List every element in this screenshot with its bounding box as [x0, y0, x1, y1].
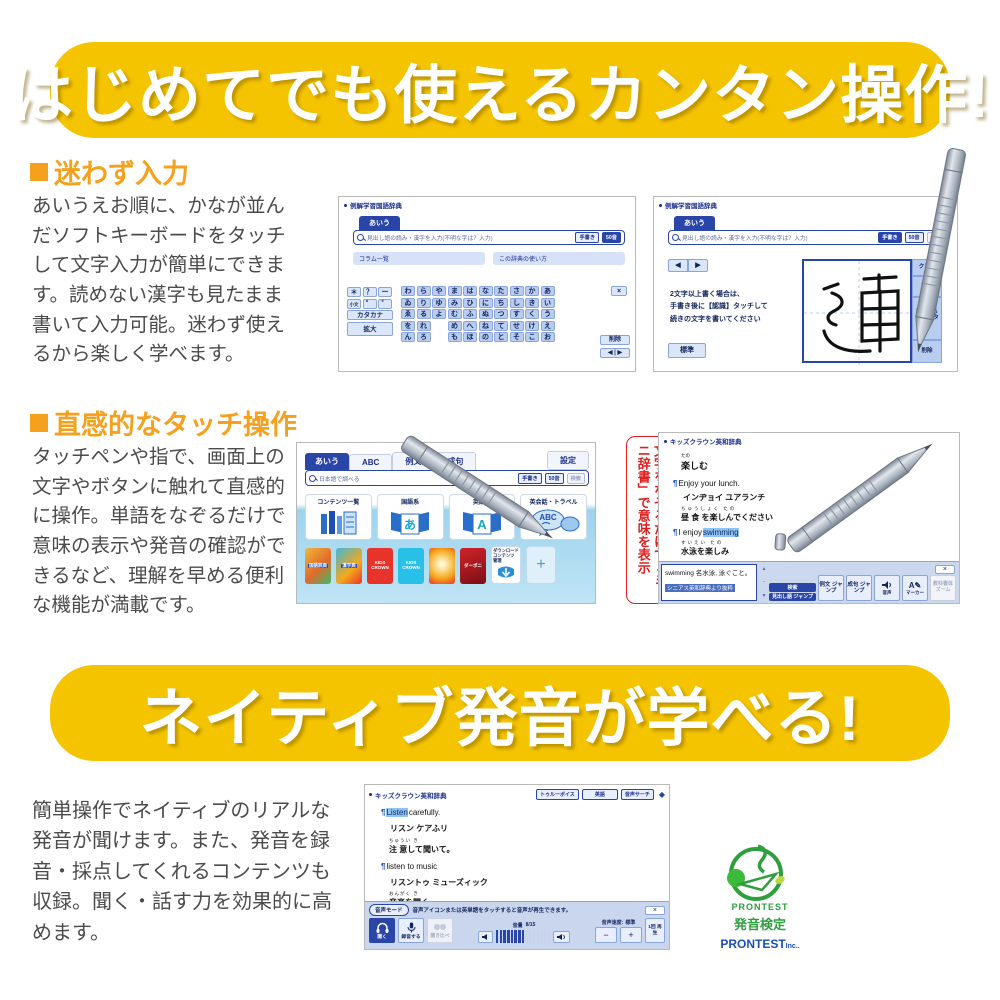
- open-book-japanese-icon: あ: [387, 506, 433, 536]
- instruction-line: 2文字以上書く場合は、: [670, 289, 768, 301]
- kana-key[interactable]: し: [510, 298, 524, 308]
- prontest-name: PRONTEST: [690, 902, 830, 912]
- mini-source: シニアス英和辞典より抜粋: [665, 584, 735, 592]
- kana-key[interactable]: ん: [401, 332, 415, 342]
- kana-key[interactable]: ゆ: [432, 298, 446, 308]
- close-button[interactable]: ×: [645, 906, 665, 915]
- kana-key[interactable]: み: [448, 298, 462, 308]
- handwrite-button[interactable]: 手書き: [575, 232, 599, 243]
- marker-icon: A✎: [909, 581, 921, 590]
- example-jump-button[interactable]: 例文 ジャンプ: [818, 575, 844, 601]
- kana-key[interactable]: は: [463, 286, 477, 296]
- marker-button[interactable]: A✎ マーカー: [902, 575, 928, 601]
- column-list-band[interactable]: コラム一覧: [353, 252, 485, 265]
- speed-label: 音声速度:: [602, 919, 624, 926]
- kana-key[interactable]: ゑ: [401, 309, 415, 319]
- textbook-zoom-button: 教科書体 ズーム: [930, 575, 956, 601]
- key-dash[interactable]: ー: [378, 287, 392, 297]
- search-button[interactable]: 検索: [567, 473, 585, 484]
- svg-text:ABC: ABC: [539, 513, 557, 522]
- example-kana: リスントゥ ミューズィック: [390, 877, 669, 888]
- book-cover[interactable]: [429, 548, 455, 584]
- instruction-line: 続きの文字を書いてください: [670, 314, 768, 326]
- example-japanese: 注 意して聞いて。: [389, 844, 669, 855]
- kana-key[interactable]: つ: [494, 309, 508, 319]
- replay-once-button[interactable]: 1回 再生: [645, 918, 665, 943]
- screen-title-text: キッズクラウン英和辞典: [375, 790, 447, 800]
- example-english: carefully.: [409, 808, 440, 817]
- tab-idiom[interactable]: 成句: [434, 452, 476, 470]
- howto-band[interactable]: この辞典の使い方: [493, 252, 625, 265]
- kana-key[interactable]: せ: [510, 321, 524, 331]
- screen-title-text: 例解学習国語辞典: [350, 200, 402, 210]
- compare-icon: [433, 922, 447, 932]
- tab-abc[interactable]: ABC: [349, 454, 392, 470]
- scroll-up-icon[interactable]: ▲: [762, 566, 767, 572]
- kana-key[interactable]: ね: [479, 321, 493, 331]
- kana-key[interactable]: や: [432, 286, 446, 296]
- example-english: Enjoy your lunch.: [678, 479, 739, 488]
- entry-word: 楽しむ: [681, 459, 959, 473]
- audio-button[interactable]: 音声: [874, 575, 900, 601]
- kana-key[interactable]: き: [525, 298, 539, 308]
- paragraph-mark-icon: ¶: [673, 479, 677, 488]
- kana-key[interactable]: な: [479, 286, 493, 296]
- kana-key[interactable]: と: [494, 332, 508, 342]
- section-heading-label: 迷わず入力: [54, 152, 189, 191]
- category-label: 国語系: [401, 497, 419, 506]
- search-placeholder: 日本語で調べる: [319, 474, 515, 483]
- books-icon: [315, 506, 361, 536]
- book-cover[interactable]: KIDS CROWN: [398, 548, 424, 584]
- kana-key[interactable]: れ: [417, 321, 431, 331]
- headphone-icon: [376, 922, 389, 933]
- paragraph-mark-icon: ¶: [381, 808, 385, 817]
- svg-text:あ: あ: [404, 518, 416, 532]
- entry-ruby: たの: [681, 452, 959, 459]
- kana-key[interactable]: う: [541, 309, 555, 319]
- tab-aiu[interactable]: あいう: [305, 453, 349, 470]
- search-icon: [309, 475, 316, 482]
- kana-key[interactable]: り: [417, 298, 431, 308]
- highlighted-word[interactable]: swimming: [703, 528, 739, 537]
- kana-key[interactable]: る: [417, 309, 431, 319]
- prev-button[interactable]: ◀: [668, 259, 688, 272]
- section-heading-input: 迷わず入力: [30, 152, 189, 191]
- screen-title-bar: 例解学習国語辞典: [339, 197, 635, 210]
- close-button[interactable]: ×: [935, 565, 955, 574]
- key-small-char[interactable]: 小文字: [347, 299, 361, 309]
- example-kana: リスン ケアふリ: [390, 823, 669, 834]
- kana-key[interactable]: え: [541, 321, 555, 331]
- kana-key[interactable]: ま: [448, 286, 462, 296]
- key-handakuten[interactable]: ゜: [363, 299, 377, 309]
- instruction-line: 手書き後に【認識】タッチして: [670, 301, 768, 313]
- kana-key[interactable]: ろ: [417, 332, 431, 342]
- audio-control-panel[interactable]: 音声モード 音声アイコンまたは英単語をタッチすると音声が再生できます。 × 聞く: [365, 901, 669, 949]
- tab-aiu[interactable]: あいう: [674, 216, 715, 230]
- kana-key[interactable]: ち: [494, 298, 508, 308]
- example-kana: インヂョイ ユアランチ: [683, 492, 959, 503]
- search-input[interactable]: 見出し語の読み・漢字を入力(不明な字は？入力) 手書き 50音 検索: [668, 230, 949, 245]
- device-screen-mini-dictionary[interactable]: キッズクラウン英和辞典 たの 楽しむ ¶ Enjoy your lunch. イ…: [658, 432, 960, 604]
- top-banner: はじめてでも使えるカンタン操作!: [50, 42, 950, 138]
- kana-key[interactable]: に: [479, 298, 493, 308]
- kana-key[interactable]: さ: [510, 286, 524, 296]
- example-english: listen to music: [386, 862, 437, 871]
- kana-key[interactable]: ゐ: [401, 298, 415, 308]
- book-cover[interactable]: ダーポニ: [460, 548, 486, 584]
- prontest-inc-suffix: Inc..: [786, 943, 800, 950]
- kana-key-blank: [432, 321, 446, 331]
- audio-label: 音声: [883, 590, 892, 596]
- kana-key[interactable]: も: [448, 332, 462, 342]
- book-cover[interactable]: KIDS CROWN: [367, 548, 393, 584]
- volume-label: 音量: [513, 922, 523, 929]
- kana-key[interactable]: か: [525, 286, 539, 296]
- search-icon: [672, 234, 679, 241]
- key-asterisk[interactable]: ＊: [347, 287, 361, 297]
- prontest-mark-icon: [714, 840, 806, 902]
- recognize-button[interactable]: 認識: [912, 276, 942, 297]
- key-katakana[interactable]: カタカナ: [347, 310, 393, 320]
- speech-bubble-abc-icon: ABC: [528, 506, 580, 536]
- kana-key[interactable]: む: [448, 309, 462, 319]
- kana-key-blank: [432, 332, 446, 342]
- listen-label: 聞く: [377, 933, 387, 940]
- category-tile-contents[interactable]: コンテンツ一覧: [305, 494, 372, 540]
- kana-key[interactable]: め: [448, 321, 462, 331]
- settings-button[interactable]: 設定: [547, 451, 589, 470]
- standard-size-button[interactable]: 標準: [668, 343, 706, 358]
- top-banner-text: はじめてでも使えるカンタン操作!: [10, 45, 990, 136]
- speed-value: 標準: [625, 919, 635, 926]
- screen-title-text: 例解学習国語辞典: [665, 200, 717, 210]
- speed-plus-button[interactable]: +: [620, 927, 642, 943]
- category-label: 英会話・トラベル: [530, 497, 578, 506]
- kana-key[interactable]: い: [541, 298, 555, 308]
- next-button[interactable]: ▶: [688, 259, 708, 272]
- idiom-jump-button[interactable]: 成句 ジャンプ: [846, 575, 872, 601]
- kana-key[interactable]: の: [479, 332, 493, 342]
- delete-button[interactable]: 削除: [912, 340, 942, 363]
- tab-aiu[interactable]: あいう: [359, 216, 400, 230]
- kana-key[interactable]: ふ: [463, 309, 477, 319]
- bottom-banner: ネイティブ発音が学べる!: [50, 665, 950, 761]
- handwriting-pad[interactable]: [802, 259, 912, 363]
- headword-jump-button[interactable]: 見出し語 ジャンプ: [769, 593, 816, 601]
- kana-key[interactable]: あ: [541, 286, 555, 296]
- search-icon: [357, 234, 364, 241]
- kana-key[interactable]: ひ: [463, 298, 477, 308]
- kana-key[interactable]: こ: [525, 332, 539, 342]
- mini-definition: swimming 名水泳, 泳ぐこと。: [665, 567, 753, 577]
- key-zoom[interactable]: 拡大: [347, 322, 393, 336]
- search-input[interactable]: 見出し語の読み・漢字を入力(不明な字は？入力) 手書き 50音: [353, 230, 625, 245]
- fifty-sounds-button[interactable]: 50音: [905, 232, 924, 243]
- book-cover[interactable]: 漢字典: [336, 548, 362, 584]
- audio-mode-badge: 音声モード: [369, 904, 409, 916]
- category-label: コンテンツ一覧: [317, 497, 359, 506]
- device-screen-keyboard[interactable]: 例解学習国語辞典 あいう 見出し語の読み・漢字を入力(不明な字は？入力) 手書き…: [338, 196, 636, 372]
- download-arrow-icon: [496, 564, 516, 580]
- example-english: I enjoy: [678, 528, 702, 537]
- speaker-low-icon: [481, 933, 490, 941]
- kana-key[interactable]: へ: [463, 321, 477, 331]
- tap-here-hint[interactable]: 書いたら ここを タッチ: [912, 297, 942, 340]
- download-label: ダウンロード コンテンツ 管理: [493, 549, 519, 564]
- square-bullet-icon: [30, 163, 48, 181]
- kana-key[interactable]: お: [541, 332, 555, 342]
- kana-key[interactable]: わ: [401, 286, 415, 296]
- category-label: 英語系: [473, 497, 491, 506]
- tab-bar[interactable]: あいう ABC 例文 成句 設定: [297, 443, 595, 470]
- section-heading-touch: 直感的なタッチ操作: [30, 403, 297, 442]
- record-mode-button[interactable]: 録音する: [398, 918, 424, 943]
- example-japanese: 昼 食 を楽しんでください: [681, 512, 959, 523]
- kana-keyboard-grid[interactable]: わ ら や ま は な た さ か あ ゐ り ゆ み ひ に ち し き: [401, 286, 555, 342]
- section-body-touch: タッチペンや指で、画面上の文字やボタンに触れて直感的に操作。単語をなぞるだけで意…: [32, 443, 302, 621]
- fifty-sounds-button[interactable]: 50音: [545, 473, 564, 484]
- device-screen-audio[interactable]: キッズクラウン英和辞典 トゥルーボイス 英語 音声サーチ ◆ ¶ Listen …: [364, 784, 670, 950]
- highlighted-word[interactable]: Listen: [386, 808, 407, 817]
- paragraph-mark-icon: ¶: [673, 528, 677, 537]
- search-button[interactable]: 検索: [769, 583, 816, 592]
- prontest-inc: PRONTEST: [720, 937, 785, 951]
- kana-key[interactable]: そ: [510, 332, 524, 342]
- clear-button[interactable]: クリア: [912, 259, 942, 276]
- paragraph-mark-icon: ¶: [381, 862, 385, 871]
- volume-slider[interactable]: [496, 930, 550, 943]
- kana-key[interactable]: て: [494, 321, 508, 331]
- cursor-arrows-button[interactable]: ◀ | ▶: [600, 348, 630, 358]
- truevoice-button[interactable]: トゥルーボイス: [536, 789, 579, 800]
- listen-mode-button[interactable]: 聞く: [369, 918, 395, 943]
- square-bullet-icon: [30, 414, 48, 432]
- kana-key[interactable]: を: [401, 321, 415, 331]
- delete-button[interactable]: 削除: [600, 335, 630, 345]
- device-screen-menu[interactable]: あいう ABC 例文 成句 設定 日本語で調べる 手書き 50音 検索 コンテン…: [296, 442, 596, 604]
- screen-title-bar: キッズクラウン英和辞典: [369, 790, 447, 800]
- bullet-dot-icon: [369, 793, 372, 796]
- book-cover[interactable]: 国語辞典: [305, 548, 331, 584]
- example-japanese: 水泳を楽しみ: [681, 546, 959, 557]
- scroll-down-icon[interactable]: ▼: [762, 593, 767, 599]
- tab-example[interactable]: 例文: [392, 452, 434, 470]
- svg-text:A: A: [477, 517, 487, 532]
- search-placeholder: 見出し語の読み・漢字を入力(不明な字は？入力): [682, 233, 875, 242]
- section-heading-label: 直感的なタッチ操作: [54, 403, 297, 442]
- scroll-arrows[interactable]: ▲ − ▼: [759, 562, 769, 603]
- volume-up-button[interactable]: [553, 931, 570, 943]
- audio-mode-hint: 音声アイコンまたは英単語をタッチすると音声が再生できます。: [413, 906, 572, 914]
- category-tile-japanese[interactable]: 国語系 あ: [377, 494, 444, 540]
- category-tile-english[interactable]: 英語系 A: [449, 494, 516, 540]
- category-tile-conversation[interactable]: 英会話・トラベル ABC: [520, 494, 587, 540]
- kana-key[interactable]: け: [525, 321, 539, 331]
- screen-title-bar: 例解学習国語辞典: [654, 197, 957, 210]
- kana-key[interactable]: ほ: [463, 332, 477, 342]
- add-content-button[interactable]: +: [526, 546, 556, 584]
- kana-key[interactable]: ぬ: [479, 309, 493, 319]
- kana-key[interactable]: た: [494, 286, 508, 296]
- section-body-input: あいうえお順に、かなが並んだソフトキーボードをタッチして文字入力が簡単にできます…: [32, 192, 300, 370]
- screen-title-text: キッズクラウン英和辞典: [670, 436, 742, 446]
- search-button[interactable]: 検索: [927, 232, 945, 243]
- scroll-indicator-icon[interactable]: ◆: [659, 790, 665, 799]
- open-book-english-icon: A: [459, 506, 505, 536]
- prontest-japanese: 発音検定: [734, 917, 786, 932]
- speaker-icon: [881, 580, 893, 590]
- kana-key[interactable]: す: [510, 309, 524, 319]
- search-input[interactable]: 日本語で調べる 手書き 50音 検索: [305, 470, 589, 486]
- kana-key[interactable]: よ: [432, 309, 446, 319]
- language-button[interactable]: 英語: [582, 789, 618, 800]
- bottom-banner-text: ネイティブ発音が学べる!: [140, 668, 861, 759]
- bullet-dot-icon: [664, 440, 667, 443]
- keyboard-utility-column[interactable]: ＊ ？ ー 小文字 ゜ ゛ カタカナ 拡大: [347, 287, 393, 336]
- record-label: 録音する: [401, 933, 420, 940]
- handwrite-button[interactable]: 手書き: [878, 232, 902, 243]
- bullet-dot-icon: [344, 204, 347, 207]
- key-dakuten[interactable]: ゛: [378, 299, 392, 309]
- screen-title-bar: キッズクラウン英和辞典: [659, 433, 959, 446]
- marker-label: マーカー: [906, 590, 924, 596]
- compare-label: 聞き比べ: [430, 932, 449, 939]
- kana-key[interactable]: く: [525, 309, 539, 319]
- prontest-logo: PRONTEST 発音検定 PRONTESTInc..: [690, 840, 830, 953]
- bullet-dot-icon: [659, 204, 662, 207]
- fifty-sounds-button[interactable]: 50音: [602, 232, 621, 243]
- close-button[interactable]: ×: [611, 286, 627, 296]
- volume-down-button[interactable]: [478, 931, 493, 943]
- section-body-audio: 簡単操作でネイティブのリアルな発音が聞けます。また、発音を録音・採点してくれるコ…: [32, 796, 332, 948]
- voice-search-button[interactable]: 音声サーチ: [621, 789, 654, 800]
- handwrite-button[interactable]: 手書き: [518, 473, 542, 484]
- device-screen-handwrite[interactable]: 例解学習国語辞典 あいう 見出し語の読み・漢字を入力(不明な字は？入力) 手書き…: [653, 196, 958, 372]
- speaker-high-icon: [556, 933, 567, 941]
- volume-value: 8/15: [526, 922, 536, 929]
- download-manager-tile[interactable]: ダウンロード コンテンツ 管理: [491, 546, 521, 584]
- compare-mode-button: 聞き比べ: [427, 918, 453, 943]
- scroll-mid-icon[interactable]: −: [763, 579, 766, 585]
- book-shelf[interactable]: 国語辞典 漢字典 KIDS CROWN KIDS CROWN ダーポニ ダウンロ…: [305, 546, 587, 584]
- mini-dictionary-panel[interactable]: swimming 名水泳, 泳ぐこと。 シニアス英和辞典より抜粋 ▲ − ▼ 検…: [659, 561, 959, 603]
- search-placeholder: 見出し語の読み・漢字を入力(不明な字は？入力): [367, 233, 572, 242]
- written-character-strokes-icon: [804, 261, 914, 365]
- key-question[interactable]: ？: [363, 287, 377, 297]
- kana-key[interactable]: ら: [417, 286, 431, 296]
- microphone-icon: [407, 922, 416, 933]
- speed-minus-button[interactable]: −: [595, 927, 617, 943]
